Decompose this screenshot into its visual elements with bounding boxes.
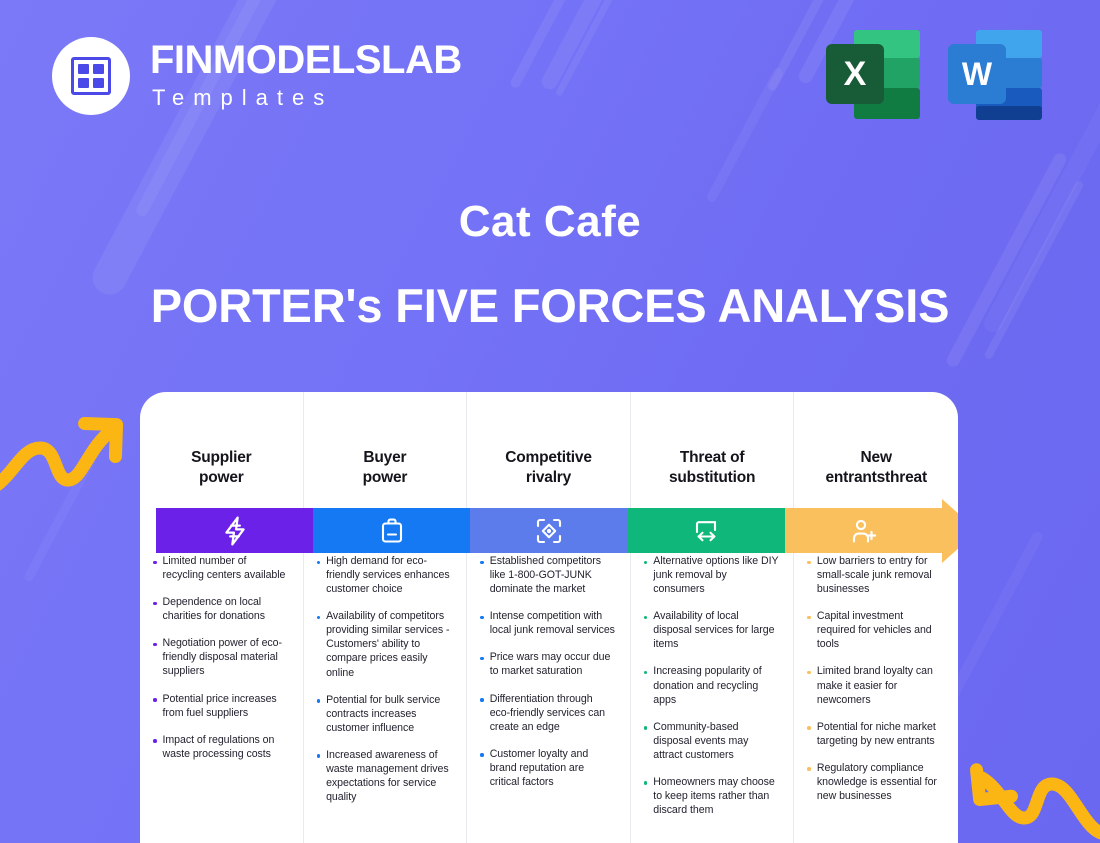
list-item-text: Negotiation power of eco-friendly dispos…	[163, 636, 289, 678]
list-item: Potential for niche market targeting by …	[802, 720, 944, 748]
list-item: Increased awareness of waste management …	[312, 748, 453, 804]
list-item: Potential price increases from fuel supp…	[148, 692, 289, 720]
five-forces-card: Supplier power Limited number of recycli…	[140, 392, 958, 843]
background-brush-stroke	[539, 0, 647, 92]
title-block: Cat Cafe PORTER's FIVE FORCES ANALYSIS	[0, 198, 1100, 332]
force-color-band	[156, 508, 942, 553]
add-user-icon	[848, 516, 878, 546]
column-title-supplier-power: Supplier power	[140, 448, 303, 496]
column-title-buyer-power: Buyer power	[304, 448, 467, 496]
band-arrow-head	[942, 499, 958, 563]
squiggly-arrow-down-left-icon	[962, 742, 1100, 842]
brand-tagline: Templates	[152, 81, 462, 114]
company-name: Cat Cafe	[0, 198, 1100, 246]
brand-logo[interactable]: FINMODELSLAB Templates	[52, 37, 462, 115]
page-title: PORTER's FIVE FORCES ANALYSIS	[0, 280, 1100, 332]
list-item-text: Impact of regulations on waste processin…	[163, 733, 289, 761]
band-new-entrants-threat[interactable]	[785, 508, 942, 553]
target-focus-icon	[534, 516, 564, 546]
brand-wordmark: FINMODELSLAB Templates	[150, 39, 462, 114]
column-title-line2: power	[199, 469, 244, 486]
list-item-text: Dependence on local charities for donati…	[163, 595, 289, 623]
list-item: Limited number of recycling centers avai…	[148, 554, 289, 582]
brand-name: FINMODELSLAB	[150, 39, 462, 81]
list-item: Established competitors like 1-800-GOT-J…	[475, 554, 616, 596]
list-item: Homeowners may choose to keep items rath…	[639, 775, 780, 817]
list-item: Availability of local disposal services …	[639, 609, 780, 651]
list-item: Negotiation power of eco-friendly dispos…	[148, 636, 289, 678]
column-title-threat-of-substitution: Threat of substitution	[631, 448, 794, 496]
list-item: Price wars may occur due to market satur…	[475, 650, 616, 678]
word-icon-letter: W	[948, 44, 1006, 104]
list-item-text: Regulatory compliance knowledge is essen…	[817, 761, 944, 803]
list-item-text: Price wars may occur due to market satur…	[490, 650, 616, 678]
band-competitive-rivalry[interactable]	[470, 508, 627, 553]
excel-icon-letter: X	[826, 44, 884, 104]
column-title-line1: New	[861, 449, 892, 466]
list-item: Availability of competitors providing si…	[312, 609, 453, 679]
list-item-text: Increasing popularity of donation and re…	[653, 664, 779, 706]
column-title-line2: entrantsthreat	[825, 469, 926, 486]
background-brush-stroke	[555, 0, 679, 97]
band-supplier-power[interactable]	[156, 508, 313, 553]
column-title-line1: Threat of	[680, 449, 745, 466]
list-item: Customer loyalty and brand reputation ar…	[475, 747, 616, 789]
list-item-text: Availability of local disposal services …	[653, 609, 779, 651]
squiggly-arrow-up-right-icon	[0, 404, 128, 496]
list-item: Potential for bulk service contracts inc…	[312, 693, 453, 735]
column-title-line1: Supplier	[191, 449, 251, 466]
grid-squares-icon	[71, 57, 111, 95]
list-item: Impact of regulations on waste processin…	[148, 733, 289, 761]
list-item-text: Low barriers to entry for small-scale ju…	[817, 554, 944, 596]
list-item: Regulatory compliance knowledge is essen…	[802, 761, 944, 803]
list-item-text: High demand for eco-friendly services en…	[326, 554, 452, 596]
band-buyer-power[interactable]	[313, 508, 470, 553]
list-item: High demand for eco-friendly services en…	[312, 554, 453, 596]
list-item-text: Potential for bulk service contracts inc…	[326, 693, 452, 735]
list-item-text: Alternative options like DIY junk remova…	[653, 554, 779, 596]
list-item-text: Community-based disposal events may attr…	[653, 720, 779, 762]
column-title-line2: rivalry	[526, 469, 571, 486]
list-item-text: Intense competition with local junk remo…	[490, 609, 616, 637]
background-brush-stroke	[705, 66, 784, 203]
list-item-text: Homeowners may choose to keep items rath…	[653, 775, 779, 817]
column-threat-of-substitution: Threat of substitution Alternative optio…	[631, 392, 795, 843]
exchange-arrows-icon	[691, 517, 721, 545]
column-buyer-power: Buyer power High demand for eco-friendly…	[304, 392, 468, 843]
list-item: Intense competition with local junk remo…	[475, 609, 616, 637]
column-supplier-power: Supplier power Limited number of recycli…	[140, 392, 304, 843]
list-item-text: Capital investment required for vehicles…	[817, 609, 944, 651]
poster-canvas: FINMODELSLAB Templates X W Cat Cafe PORT…	[0, 0, 1100, 843]
column-title-line2: power	[363, 469, 408, 486]
column-new-entrants-threat: New entrantsthreat Low barriers to entry…	[794, 392, 958, 843]
briefcase-icon	[378, 516, 406, 546]
list-item: Community-based disposal events may attr…	[639, 720, 780, 762]
list-item: Capital investment required for vehicles…	[802, 609, 944, 651]
list-item-text: Customer loyalty and brand reputation ar…	[490, 747, 616, 789]
list-item: Alternative options like DIY junk remova…	[639, 554, 780, 596]
list-item-text: Increased awareness of waste management …	[326, 748, 452, 804]
background-brush-stroke	[509, 0, 621, 89]
column-title-new-entrants-threat: New entrantsthreat	[794, 448, 958, 496]
logo-badge	[52, 37, 130, 115]
column-title-line2: substitution	[669, 469, 755, 486]
format-icons: X W	[826, 28, 1042, 120]
list-item: Increasing popularity of donation and re…	[639, 664, 780, 706]
list-item: Differentiation through eco-friendly ser…	[475, 692, 616, 734]
list-item: Low barriers to entry for small-scale ju…	[802, 554, 944, 596]
column-competitive-rivalry: Competitive rivalry Established competit…	[467, 392, 631, 843]
list-item-text: Availability of competitors providing si…	[326, 609, 452, 679]
word-icon[interactable]: W	[948, 28, 1042, 120]
column-title-competitive-rivalry: Competitive rivalry	[467, 448, 630, 496]
list-item: Limited brand loyalty can make it easier…	[802, 664, 944, 706]
excel-icon[interactable]: X	[826, 28, 920, 120]
column-title-line1: Competitive	[505, 449, 592, 466]
list-item-text: Limited brand loyalty can make it easier…	[817, 664, 944, 706]
list-item: Dependence on local charities for donati…	[148, 595, 289, 623]
list-item-text: Differentiation through eco-friendly ser…	[490, 692, 616, 734]
list-item-text: Limited number of recycling centers avai…	[163, 554, 289, 582]
lightning-bolt-icon	[222, 516, 248, 546]
column-title-line1: Buyer	[363, 449, 406, 466]
five-forces-grid: Supplier power Limited number of recycli…	[140, 392, 958, 843]
list-item-text: Established competitors like 1-800-GOT-J…	[490, 554, 616, 596]
list-item-text: Potential for niche market targeting by …	[817, 720, 944, 748]
list-item-text: Potential price increases from fuel supp…	[163, 692, 289, 720]
band-threat-of-substitution[interactable]	[628, 508, 785, 553]
